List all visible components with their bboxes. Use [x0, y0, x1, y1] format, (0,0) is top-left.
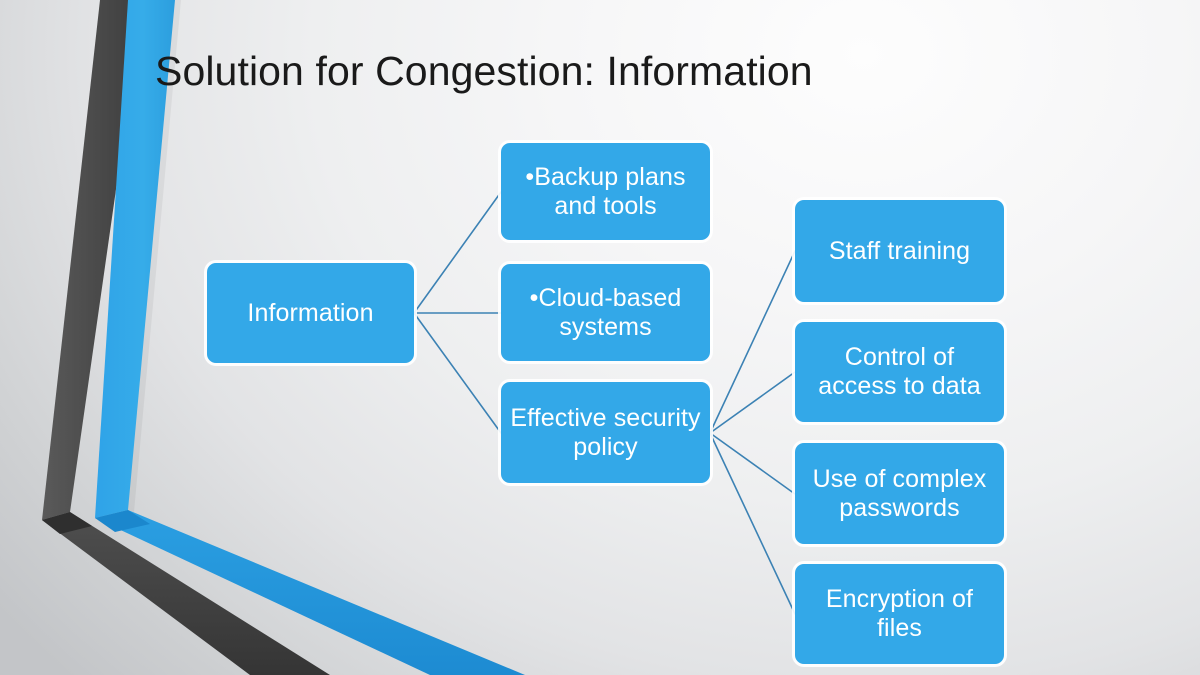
- connector-policy-to-passwords: [710, 433, 795, 494]
- diagram-node-staff-training[interactable]: Staff training: [795, 200, 1004, 302]
- diagram-node-encryption-of-files[interactable]: Encryption of files: [795, 564, 1004, 664]
- frame-band-dark-diagonal: [42, 512, 330, 675]
- node-label: •Backup plans and tools: [510, 163, 701, 221]
- frame-band-blue-bevel: [95, 510, 150, 532]
- frame-band-blue-diagonal: [95, 510, 525, 675]
- frame-band-dark-bevel: [42, 512, 92, 534]
- node-label: •Cloud-based systems: [510, 284, 701, 342]
- node-label: Control of access to data: [804, 343, 995, 401]
- connector-root-to-backup: [414, 192, 501, 313]
- node-label: Encryption of files: [804, 585, 995, 643]
- diagram-node-cloud-based-systems[interactable]: •Cloud-based systems: [501, 264, 710, 361]
- diagram-node-use-of-complex-passwords[interactable]: Use of complex passwords: [795, 443, 1004, 544]
- presentation-slide: Solution for Congestion: Information Inf…: [0, 0, 1200, 675]
- node-label: Staff training: [829, 237, 970, 266]
- connector-policy-to-access-control: [710, 372, 795, 433]
- diagram-node-backup-plans-and-tools[interactable]: •Backup plans and tools: [501, 143, 710, 240]
- frame-band-dark-vertical: [42, 0, 143, 520]
- diagram-node-control-of-access-to-data[interactable]: Control of access to data: [795, 322, 1004, 422]
- diagram-node-effective-security-policy[interactable]: Effective security policy: [501, 382, 710, 483]
- diagram-node-information[interactable]: Information: [207, 263, 414, 363]
- connector-policy-to-encryption: [710, 433, 795, 614]
- connector-root-to-policy: [414, 313, 501, 433]
- page-title: Solution for Congestion: Information: [155, 48, 1115, 95]
- node-label: Effective security policy: [510, 404, 701, 462]
- node-label: Use of complex passwords: [804, 465, 995, 523]
- node-label: Information: [247, 299, 373, 328]
- connector-policy-to-staff-training: [710, 251, 795, 433]
